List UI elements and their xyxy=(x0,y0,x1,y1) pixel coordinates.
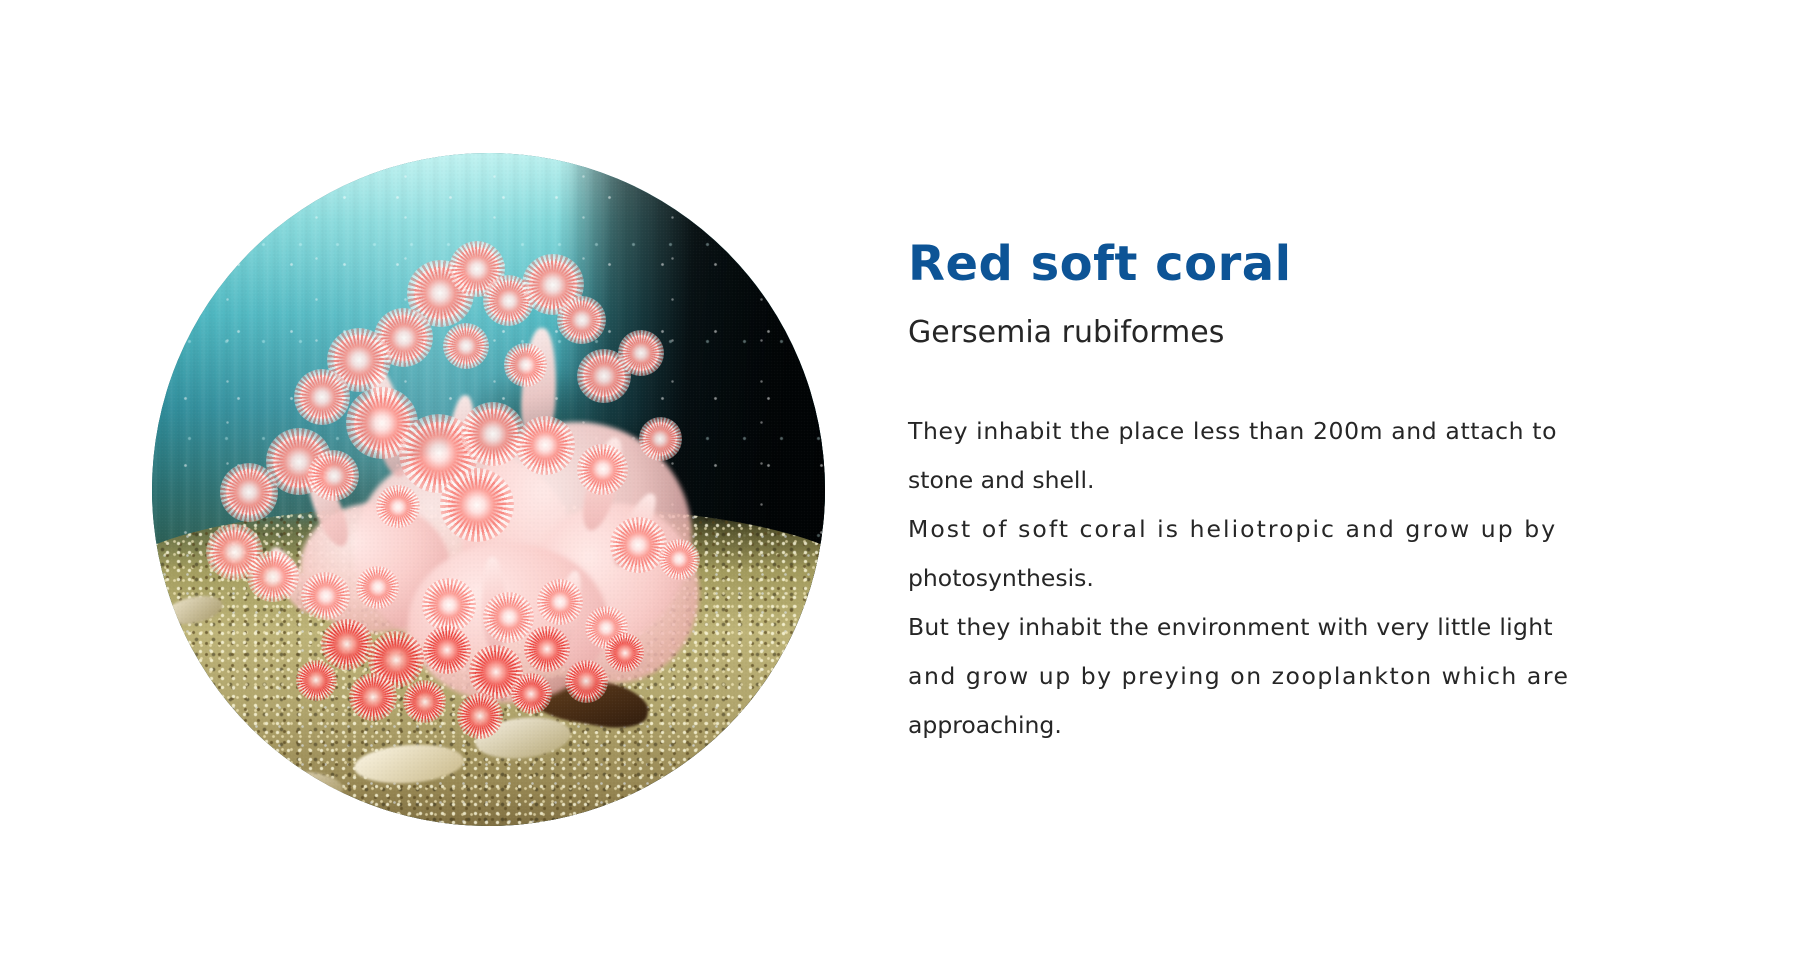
coral-polyp xyxy=(542,584,578,620)
coral-polyp xyxy=(489,597,529,637)
coral-polyp xyxy=(583,355,625,397)
coral-polyp-deep-red xyxy=(515,678,547,710)
scientific-name-subtitle: Gersemia rubiformes xyxy=(908,315,1680,351)
coral-polyp xyxy=(300,375,344,419)
coral-polyp-deep-red xyxy=(327,624,367,664)
description-line: But they inhabit the environment with ve… xyxy=(908,603,1680,652)
coral-polyp-deep-red xyxy=(475,651,517,693)
coral-polyp xyxy=(509,348,543,382)
description-line: stone and shell. xyxy=(908,456,1680,505)
coral-polyp-deep-red xyxy=(428,631,466,669)
coral-polyp xyxy=(563,301,601,339)
description-body: They inhabit the place less than 200m an… xyxy=(908,407,1680,750)
coral-polyp-deep-red xyxy=(610,638,640,668)
coral-polyp xyxy=(616,523,660,567)
coral-polyp xyxy=(468,409,518,459)
photo-scene xyxy=(152,153,825,826)
coral-polyp xyxy=(314,456,354,496)
coral-polyp-deep-red xyxy=(354,678,392,716)
coral-polyp xyxy=(361,570,395,604)
coral-polyp xyxy=(381,490,415,524)
coral-polyp xyxy=(522,422,568,468)
red-soft-coral-photo xyxy=(152,153,825,826)
slide-root: Red soft coral Gersemia rubiformes They … xyxy=(0,0,1820,980)
coral-polyp xyxy=(643,422,677,456)
description-line: Most of soft coral is heliotropic and gr… xyxy=(908,505,1680,554)
coral-polyp-deep-red xyxy=(569,664,603,698)
coral-polyp-deep-red xyxy=(408,685,442,719)
description-line: They inhabit the place less than 200m an… xyxy=(908,407,1680,456)
coral-polyp xyxy=(253,557,293,597)
coral-polyp xyxy=(307,577,345,615)
coral-polyp-deep-red xyxy=(529,631,565,667)
description-line: approaching. xyxy=(908,701,1680,750)
page-title: Red soft coral xyxy=(908,236,1680,293)
text-panel: Red soft coral Gersemia rubiformes They … xyxy=(908,236,1680,750)
coral-polyp xyxy=(226,469,272,515)
coral-polyp xyxy=(428,584,470,626)
coral-polyp-deep-red xyxy=(462,698,498,734)
coral-polyp xyxy=(583,449,623,489)
coral-polyp-deep-red xyxy=(300,664,332,696)
description-line: photosynthesis. xyxy=(908,554,1680,603)
coral-polyp xyxy=(623,335,659,371)
coral-polyp xyxy=(448,476,506,534)
coral-polyp xyxy=(448,328,484,364)
description-line: and grow up by preying on zooplankton wh… xyxy=(908,652,1680,701)
coral-polyp xyxy=(663,543,695,575)
